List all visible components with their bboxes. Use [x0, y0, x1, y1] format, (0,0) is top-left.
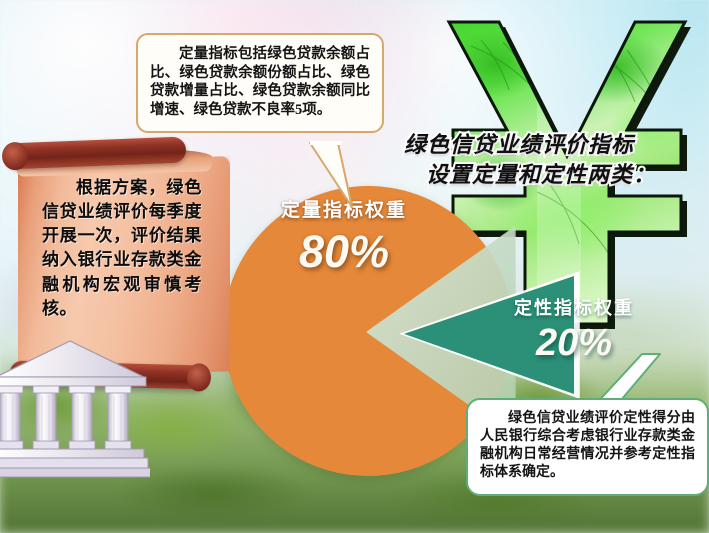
callout-qualitative: 绿色信贷业绩评价定性得分由人民银行综合考虑银行业存款类金融机构日常经营情况并参考…: [466, 398, 709, 496]
bank-building-icon: [0, 337, 150, 482]
callout-quantitative-text: 定量指标包括绿色贷款余额占比、绿色贷款余额份额占比、绿色贷款增量占比、绿色贷款余…: [150, 45, 370, 119]
callout-pointer-quantitative: [308, 141, 354, 209]
page-title-line2: 设置定量和定性两类：: [404, 160, 709, 190]
page-title: 绿色信贷业绩评价指标 设置定量和定性两类：: [404, 130, 709, 191]
scroll-text: 根据方案，绿色信贷业绩评价每季度开展一次，评价结果纳入银行业存款类金融机构宏观审…: [42, 176, 202, 321]
page-title-line1: 绿色信贷业绩评价指标: [404, 132, 634, 157]
infographic-canvas: 定量指标权重 80% 定性指标权重 20% 绿色信贷业绩评价指标 设置定量和定性…: [0, 0, 709, 533]
callout-quantitative: 定量指标包括绿色贷款余额占比、绿色贷款余额份额占比、绿色贷款增量占比、绿色贷款余…: [136, 33, 384, 133]
callout-qualitative-text: 绿色信贷业绩评价定性得分由人民银行综合考虑银行业存款类金融机构日常经营情况并参考…: [480, 410, 695, 482]
